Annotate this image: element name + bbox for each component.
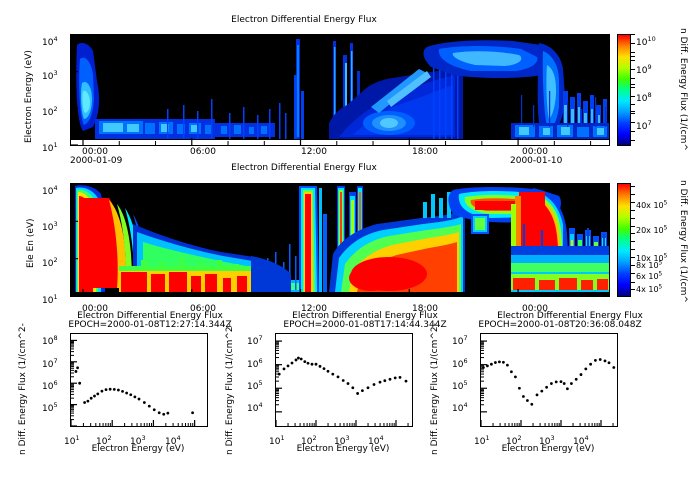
spectrum-3-ytick-4: 104	[452, 396, 468, 415]
spectrum-3-plot[interactable]	[480, 333, 618, 427]
panel-top-cbar-tick-9: 109	[636, 58, 652, 77]
panel-top-cbar-tick-8: 108	[636, 86, 652, 105]
panel-mid-ytick-3: 103	[42, 215, 58, 234]
spectrum-1-ylabel: n Diff. Energy Flux (1/(cm^2-	[18, 323, 28, 455]
panel-top-xtick-3: 18:00	[412, 147, 438, 157]
panel-top-data-image	[71, 35, 609, 145]
spectrum-1-ytick-8: 108	[42, 329, 58, 348]
spectrum-2-xlabel: Electron Energy (eV)	[275, 444, 411, 454]
panel-mid-colorbar-label-group: n Diff. Energy Flux (1/(cm^	[688, 180, 697, 190]
spectrum-1-plot[interactable]	[70, 333, 208, 427]
spectrum-3-ytick-5: 105	[452, 374, 468, 393]
spectrum-2-ytick-5: 105	[247, 374, 263, 393]
spectrum-3-xlabel: Electron Energy (eV)	[480, 444, 616, 454]
panel-top-spectrogram[interactable]	[70, 34, 610, 146]
spectrum-2-ytick-7: 107	[247, 329, 263, 348]
panel-mid-colorbar-label: n Diff. Energy Flux (1/(cm^	[678, 180, 688, 303]
spectrum-1-points	[71, 334, 207, 426]
spectrum-1-ylabel-group: n Diff. Energy Flux (1/(cm^2-	[18, 455, 150, 465]
spectrum-1-ytick-5: 105	[42, 396, 58, 415]
panel-top-colorbar[interactable]	[617, 34, 631, 146]
panel-mid-spectrogram[interactable]	[70, 183, 610, 297]
panel-mid-cbar-tick-40: 40x 105	[636, 193, 667, 212]
panel-mid-ytick-4: 104	[42, 179, 58, 198]
panel-top-ytick-4: 104	[42, 30, 58, 49]
spectrum-2-ytick-4: 104	[247, 396, 263, 415]
panel-top-title: Electron Differential Energy Flux	[0, 15, 608, 25]
panel-mid-ytick-1: 101	[42, 288, 58, 307]
spectrum-2-plot[interactable]	[275, 333, 413, 427]
panel-top-cbar-tick-7: 107	[636, 114, 652, 133]
panel-top-colorbar-label: n Diff. Energy Flux (1/(cm^	[678, 28, 688, 151]
panel-mid-title: Electron Differential Energy Flux	[0, 163, 608, 173]
spectrum-3-ylabel: n Diff. Energy Flux (1/(cm^2-	[430, 323, 440, 455]
panel-top-ytick-3: 103	[42, 64, 58, 83]
spectrum-2-points	[276, 334, 412, 426]
panel-mid-cbar-tick-20: 20x 105	[636, 218, 667, 237]
spectrum-2-ytick-6: 106	[247, 352, 263, 371]
spectrum-2-ylabel: n Diff. Energy Flux (1/(cm^2-	[225, 323, 235, 455]
spectrum-1-ytick-6: 106	[42, 374, 58, 393]
spectrum-3-ytick-7: 107	[452, 329, 468, 348]
panel-top-ytick-1: 101	[42, 136, 58, 155]
spectrum-1-ytick-7: 107	[42, 352, 58, 371]
spectrum-3-epoch: EPOCH=2000-01-08T20:36:08.048Z	[450, 320, 670, 330]
panel-mid-cbar-tick-4: 4x 105	[636, 277, 662, 296]
panel-mid-ytick-2: 102	[42, 251, 58, 270]
panel-top-colorbar-label-group: n Diff. Energy Flux (1/(cm^	[688, 28, 697, 38]
panel-top-ylabel: Electron Energy (eV)	[24, 50, 34, 143]
panel-top-xtick-2: 12:00	[301, 147, 327, 157]
spectrum-3-points	[481, 334, 617, 426]
panel-top-xtick-1: 06:00	[190, 147, 216, 157]
spectrum-3-ytick-6: 106	[452, 352, 468, 371]
panel-mid-colorbar[interactable]	[617, 183, 631, 297]
panel-top-ytick-2: 102	[42, 100, 58, 119]
spectrum-1-xlabel: Electron Energy (eV)	[70, 444, 206, 454]
panel-mid-ylabel: Ele En (eV)	[26, 218, 36, 268]
spectrum-3-ylabel-group: n Diff. Energy Flux (1/(cm^2-	[430, 455, 562, 465]
spectrum-2-epoch: EPOCH=2000-01-08T17:14:44.344Z	[255, 320, 475, 330]
spectrum-2-ylabel-group: n Diff. Energy Flux (1/(cm^2-	[225, 455, 357, 465]
panel-mid-data-image	[71, 184, 609, 296]
panel-top-cbar-tick-10: 1010	[636, 30, 656, 49]
